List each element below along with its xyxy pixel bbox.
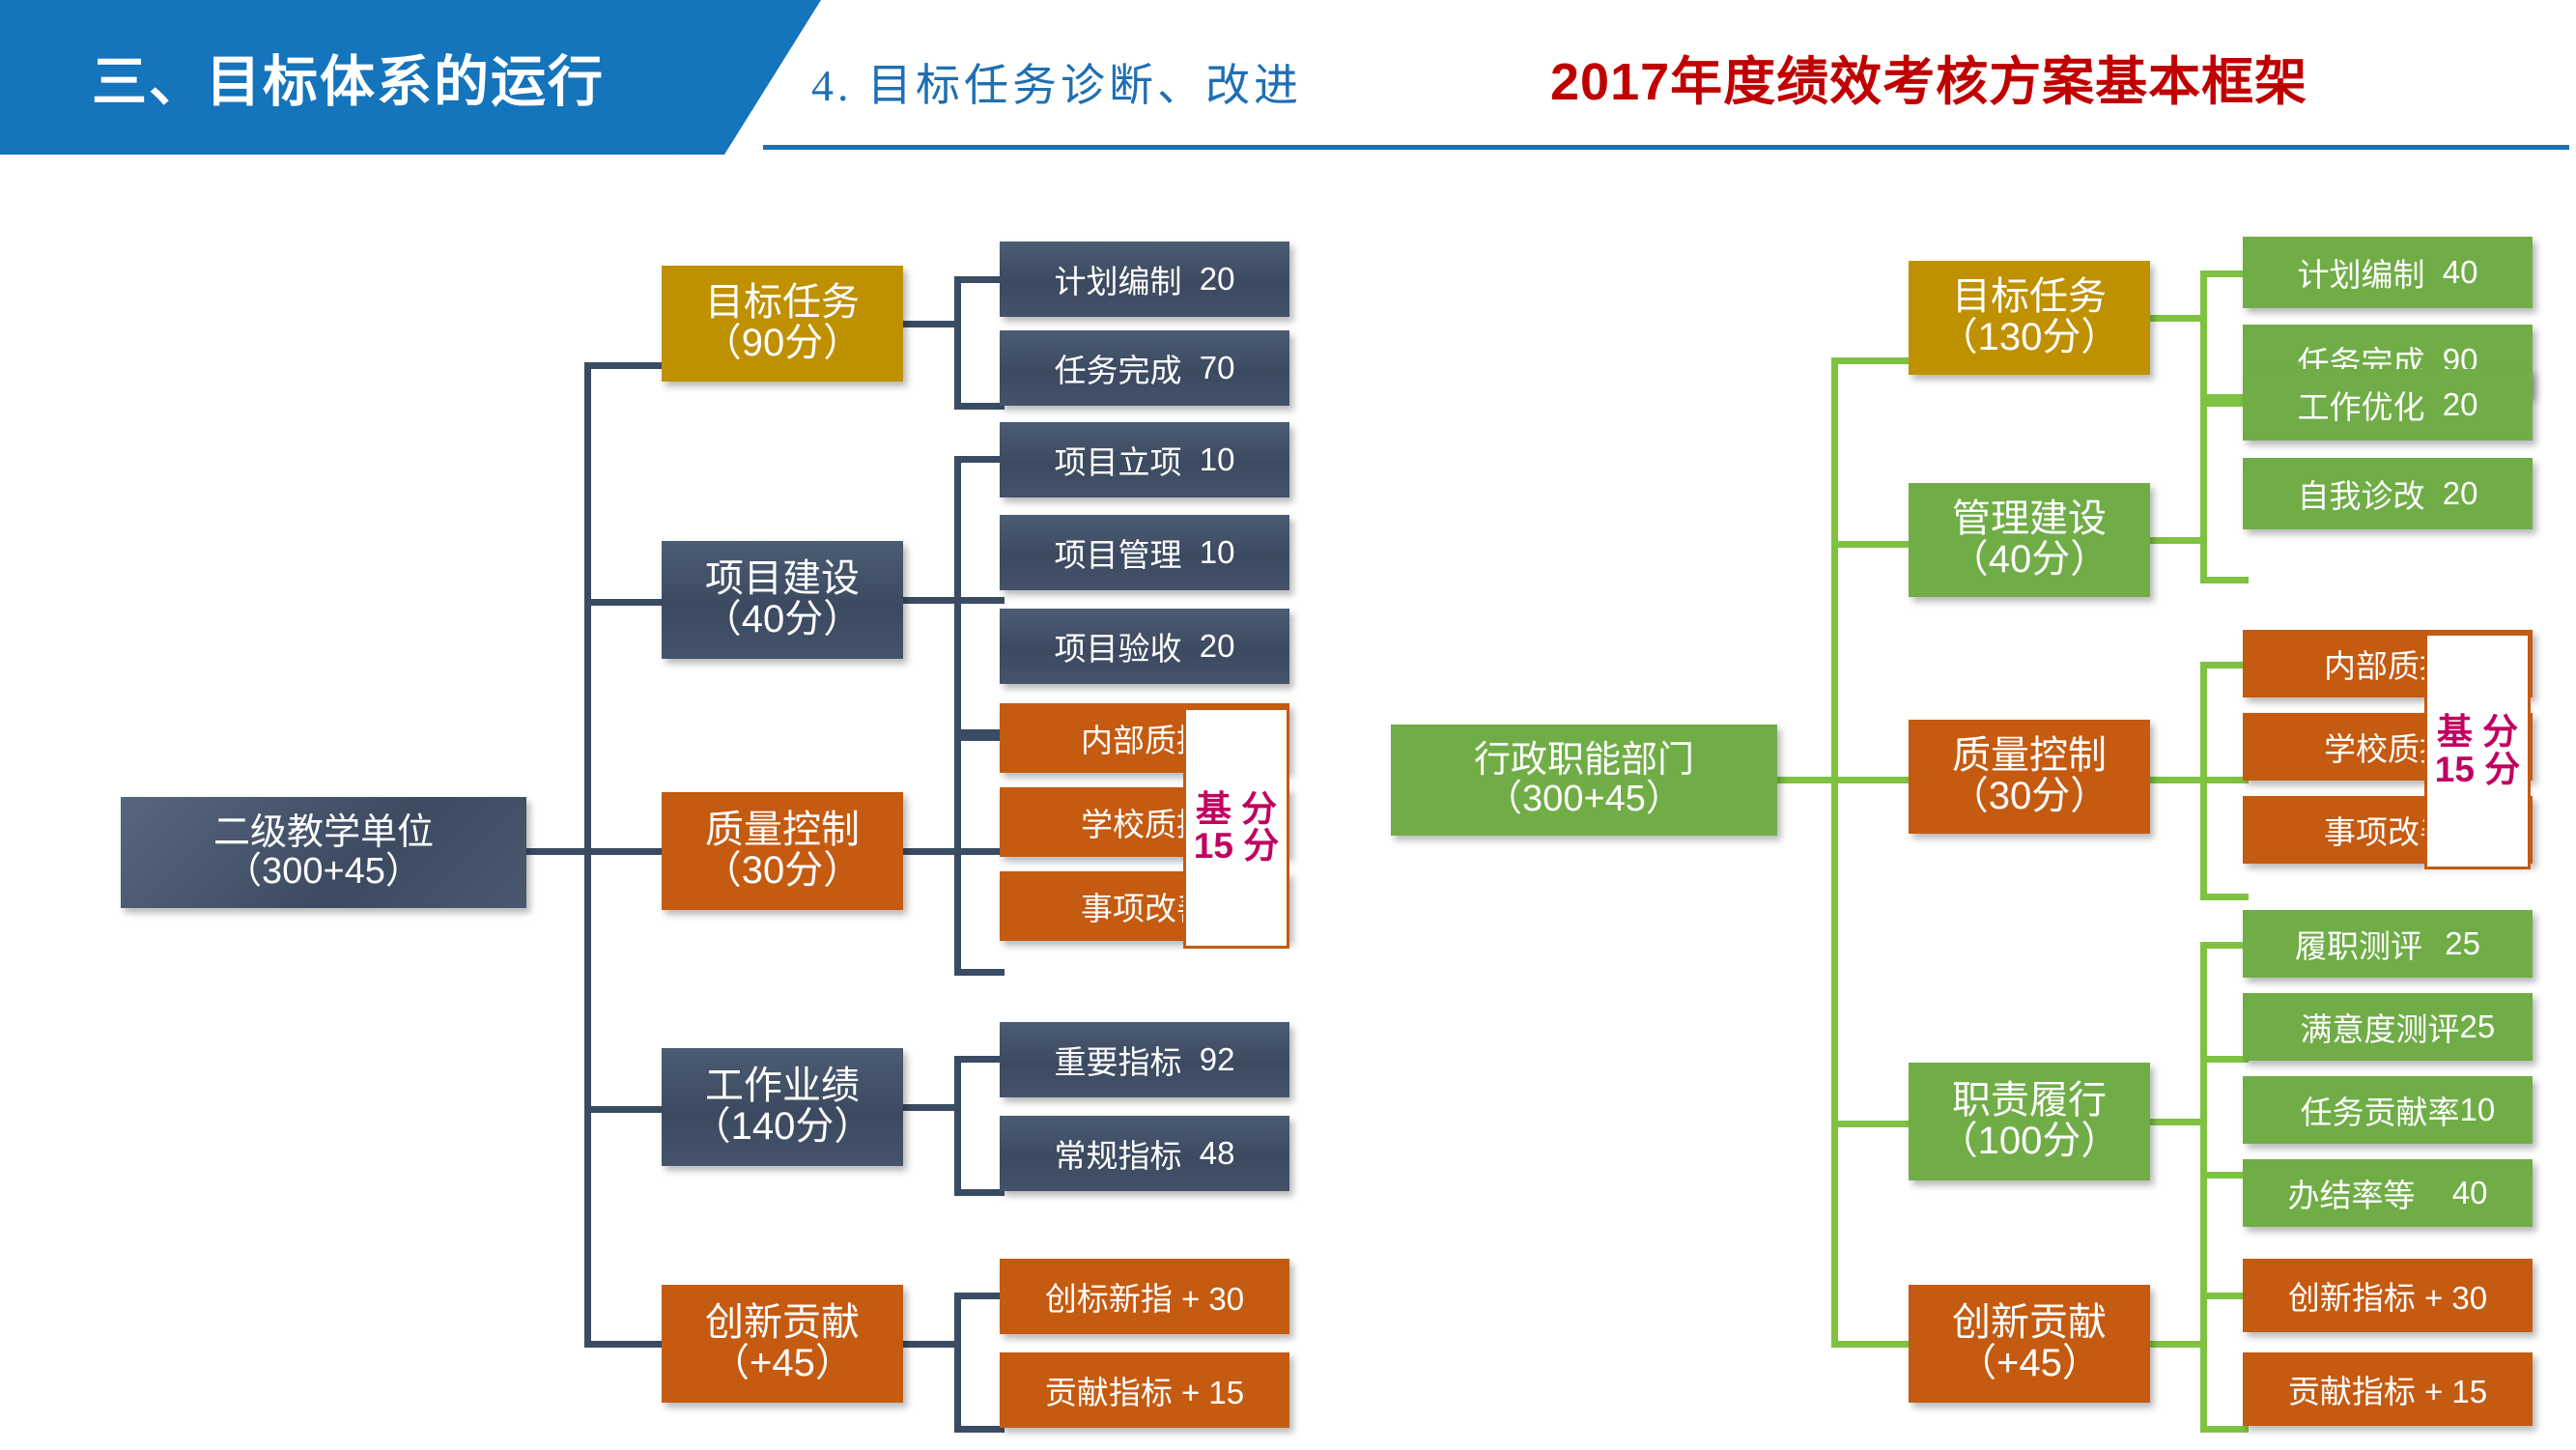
right-b5-leaf-1-label: 创新指标 + 30 [2288,1272,2487,1319]
left-b5-leaf-2-label: 贡献指标 + 15 [1045,1367,1244,1413]
left-b1-leaf-2-score: 70 [1182,350,1235,386]
right-b3-leaf-3-line [2200,894,2249,900]
right-branch-4-label: 职责履行 （100分） [1939,1081,2120,1161]
left-b1-stem [903,321,961,327]
right-b4-leaf-2-line [2200,1056,2249,1063]
left-b5-bus [954,1293,961,1433]
right-b4-leaf-3: 任务贡献率 10 [2243,1076,2533,1144]
left-b2-bus [954,456,961,736]
left-b2-leaf-1: 项目立项 10 [1000,422,1289,498]
left-b5-stem [903,1341,961,1348]
right-branch-1-label: 目标任务 （130分） [1939,277,2120,357]
right-branch-2: 管理建设 （40分） [1909,483,2150,597]
org-tree-diagram: 二级教学单位 （300+45） 目标任务 （90分） 计划编制 20 任务完成 … [0,155,2576,1450]
right-b3-stem [2150,777,2206,783]
header-divider [763,145,2569,150]
left-base-score-box: 基 分 15 分 [1183,707,1289,949]
left-b4-bus [954,1056,961,1196]
right-b5-leaf-2-line [2200,1426,2249,1433]
right-b4-leaf-2: 满意度测评 25 [2243,993,2533,1061]
section-title: 三、目标体系的运行 [92,43,710,121]
right-b4-leaf-1: 履职测评 25 [2243,910,2533,978]
right-b1-leaf-1-line [2200,270,2249,277]
left-branch-3: 质量控制 （30分） [662,792,903,910]
left-b4-leaf-2-line [954,1189,1005,1196]
right-root-label: 行政职能部门 （300+45） [1474,742,1694,818]
right-base-score-box: 基 分 15 分 [2424,633,2531,869]
left-b4-leaf-1-score: 92 [1182,1041,1235,1078]
left-b1-leaf-2-line [954,403,1005,410]
left-b4-leaf-1: 重要指标 92 [1000,1022,1289,1097]
left-b3-leaf-1-line [954,734,1005,741]
left-base-score-label: 基 分 15 分 [1186,791,1287,865]
right-root-stem [1777,777,1837,783]
right-b4-leaf-3-label: 任务贡献率 [2301,1087,2460,1133]
right-b2-bus [2200,400,2207,583]
left-b5-leaf-1: 创标新指 + 30 [1000,1259,1289,1334]
right-base-score-label: 基 分 15 分 [2427,714,2528,787]
right-root-node: 行政职能部门 （300+45） [1391,725,1777,836]
left-branch-3-label: 质量控制 （30分） [703,810,863,891]
left-b1-leaf-1-score: 20 [1182,261,1235,298]
right-b2-leaf-1: 工作优化 20 [2243,369,2533,441]
left-b4-leaf-2-score: 48 [1182,1135,1235,1172]
right-b5-leaf-2-label: 贡献指标 + 15 [2288,1366,2487,1412]
right-b3-leaf-1-line [2200,662,2249,668]
left-spine-stub-4 [584,1106,662,1113]
right-spine-stub-2 [1831,541,1909,548]
right-spine [1831,357,1838,1343]
right-spine-stub-5 [1831,1341,1909,1348]
left-b1-bus [954,276,961,410]
left-b4-leaf-1-line [954,1056,1005,1063]
right-branch-5: 创新贡献 （+45） [1909,1285,2150,1403]
left-branch-2: 项目建设 （40分） [662,541,903,659]
section-subtitle: 4. 目标任务诊断、改进 [811,50,1302,114]
right-b2-leaf-1-score: 20 [2425,386,2478,423]
left-b2-leaf-2-line [954,597,1005,604]
right-branch-4: 职责履行 （100分） [1909,1063,2150,1180]
left-b2-leaf-2: 项目管理 10 [1000,515,1289,590]
right-b4-leaf-1-line [2200,942,2249,949]
left-b1-leaf-2-label: 任务完成 [1055,345,1182,391]
left-b2-leaf-1-score: 10 [1182,441,1235,478]
left-b4-stem [903,1104,961,1111]
left-branch-5: 创新贡献 （+45） [662,1285,903,1403]
left-branch-5-label: 创新贡献 （+45） [705,1303,860,1383]
left-b5-leaf-1-label: 创标新指 + 30 [1045,1273,1244,1320]
right-b1-leaf-1-label: 计划编制 [2298,249,2425,296]
right-b3-leaf-2-line [2200,777,2249,783]
left-b5-leaf-1-line [954,1293,1005,1299]
right-spine-stub-4 [1831,1121,1909,1127]
left-b5-leaf-2-line [954,1426,1005,1433]
right-b2-leaf-2-label: 自我诊改 [2298,470,2425,517]
left-spine [584,362,591,1348]
right-b2-leaf-2: 自我诊改 20 [2243,458,2533,529]
left-b2-leaf-2-score: 10 [1182,534,1235,571]
right-b4-leaf-2-score: 25 [2460,1009,2476,1045]
left-b2-leaf-3: 项目验收 20 [1000,609,1289,684]
right-b4-stem [2150,1119,2206,1125]
right-b4-leaf-1-score: 25 [2422,925,2480,962]
right-b5-leaf-1: 创新指标 + 30 [2243,1259,2533,1332]
left-b1-leaf-2: 任务完成 70 [1000,330,1289,406]
left-b1-leaf-1-line [954,276,1005,283]
right-b2-leaf-2-line [2200,577,2249,583]
left-b3-bus [954,734,961,976]
right-b4-leaf-4-label: 办结率等 [2288,1170,2416,1216]
left-root-node: 二级教学单位 （300+45） [121,797,526,908]
page-title: 2017年度绩效考核方案基本框架 [1550,39,2307,115]
right-b5-leaf-1-line [2200,1293,2249,1299]
left-b2-leaf-1-line [954,456,1005,463]
right-b2-leaf-1-label: 工作优化 [2298,382,2425,428]
left-b2-leaf-3-label: 项目验收 [1055,623,1182,669]
right-branch-5-label: 创新贡献 （+45） [1952,1303,2107,1383]
right-b1-bus [2200,270,2207,401]
right-b2-stem [2150,537,2206,544]
right-b1-leaf-1: 计划编制 40 [2243,237,2533,308]
left-b5-leaf-2: 贡献指标 + 15 [1000,1352,1289,1428]
left-spine-stub-5 [584,1341,662,1348]
left-branch-4: 工作业绩 （140分） [662,1048,903,1166]
left-root-label: 二级教学单位 （300+45） [213,814,434,891]
right-b5-bus [2200,1293,2207,1433]
right-b4-leaf-2-label: 满意度测评 [2301,1004,2460,1050]
right-branch-1: 目标任务 （130分） [1909,261,2150,375]
left-spine-stub-3 [584,848,662,855]
left-spine-stub-2 [584,599,662,606]
page-header: 三、目标体系的运行 4. 目标任务诊断、改进 2017年度绩效考核方案基本框架 [0,0,2576,155]
right-b1-leaf-1-score: 40 [2425,254,2478,291]
right-b4-leaf-3-line [2200,1172,2249,1179]
right-b5-stem [2150,1341,2206,1348]
right-b2-leaf-2-score: 20 [2425,475,2478,512]
right-b4-bus [2200,942,2207,1299]
left-branch-4-label: 工作业绩 （140分） [693,1066,873,1147]
left-b4-leaf-1-label: 重要指标 [1055,1037,1182,1083]
left-branch-1: 目标任务 （90分） [662,266,903,382]
left-spine-stub-1 [584,362,662,369]
left-b1-leaf-1: 计划编制 20 [1000,242,1289,317]
right-branch-2-label: 管理建设 （40分） [1950,499,2109,580]
right-branch-3: 质量控制 （30分） [1909,720,2150,834]
right-branch-3-label: 质量控制 （30分） [1950,736,2109,816]
left-branch-2-label: 项目建设 （40分） [703,559,863,640]
right-b4-leaf-4: 办结率等 40 [2243,1159,2533,1227]
left-b2-leaf-2-label: 项目管理 [1055,529,1182,576]
left-branch-1-label: 目标任务 （90分） [703,283,863,363]
right-b4-leaf-1-label: 履职测评 [2295,921,2422,967]
left-b2-stem [903,597,961,604]
right-b5-leaf-2: 贡献指标 + 15 [2243,1352,2533,1426]
right-b4-leaf-3-score: 10 [2460,1092,2476,1128]
left-b3-leaf-3-line [954,969,1005,976]
left-b4-leaf-2-label: 常规指标 [1055,1130,1182,1177]
left-b3-leaf-2-line [954,848,1005,855]
right-spine-stub-3 [1831,777,1909,783]
left-b2-leaf-3-score: 20 [1182,628,1235,665]
left-root-stem [526,848,590,855]
left-b4-leaf-2: 常规指标 48 [1000,1116,1289,1191]
right-b1-stem [2150,315,2206,322]
right-spine-stub-1 [1831,357,1909,364]
left-b1-leaf-1-label: 计划编制 [1055,256,1182,302]
right-b4-leaf-4-score: 40 [2416,1175,2488,1211]
right-b2-leaf-1-line [2200,400,2249,407]
left-b3-stem [903,848,961,855]
left-b2-leaf-1-label: 项目立项 [1055,437,1182,483]
